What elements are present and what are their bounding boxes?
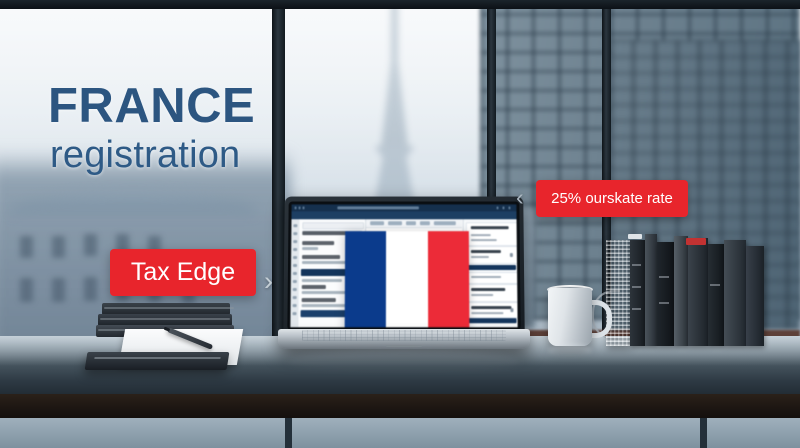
rail-icon[interactable] xyxy=(293,272,297,275)
chevron-right-icon[interactable]: › xyxy=(264,268,273,295)
window-transom xyxy=(0,0,800,9)
sidebar-item-label[interactable] xyxy=(302,255,340,259)
sidebar-item-subtext xyxy=(302,304,346,307)
detail-section-header xyxy=(466,265,516,270)
flag-band-white xyxy=(386,231,428,327)
main-toolbar xyxy=(366,219,462,228)
laptop-bezel xyxy=(287,201,520,330)
coffee-mug xyxy=(548,288,592,346)
app-title-bar xyxy=(292,204,517,211)
sidebar-item-label[interactable] xyxy=(302,285,326,289)
rail-icon[interactable] xyxy=(293,240,297,243)
page-title: FRANCE xyxy=(48,82,255,131)
window-mullion-lower xyxy=(285,418,292,448)
detail-section-header xyxy=(466,318,516,323)
detail-title xyxy=(471,288,505,291)
rail-icon[interactable] xyxy=(293,304,297,307)
book-spine-line xyxy=(710,284,720,286)
eiffel-mast xyxy=(391,0,398,68)
laptop xyxy=(278,196,530,366)
book-spine-line xyxy=(632,264,641,266)
book xyxy=(724,240,746,346)
search-input[interactable] xyxy=(302,222,364,229)
notebook-page-edge xyxy=(104,307,234,309)
book xyxy=(645,234,657,346)
toolbar-button[interactable] xyxy=(420,221,430,225)
detail-panel xyxy=(463,219,518,327)
flag-band-blue xyxy=(345,231,387,327)
mug-reflection xyxy=(548,344,592,357)
notebook-page-edge xyxy=(94,357,220,359)
book xyxy=(746,246,764,346)
sidebar-item-subtext xyxy=(302,291,348,294)
paris-window xyxy=(84,234,97,256)
app-menu-bar xyxy=(291,211,516,219)
sidebar-item-subtext xyxy=(302,279,342,282)
paris-window xyxy=(52,236,65,258)
paris-window xyxy=(20,236,33,258)
book-marker-red xyxy=(686,238,706,245)
detail-title xyxy=(471,226,509,229)
detail-card[interactable] xyxy=(466,222,518,246)
window-minimize-icon[interactable] xyxy=(497,207,499,209)
rail-icon[interactable] xyxy=(293,312,297,315)
french-flag-graphic xyxy=(345,231,470,327)
page-subtitle: registration xyxy=(50,136,240,174)
window-close-icon[interactable] xyxy=(508,207,510,209)
detail-card[interactable] xyxy=(466,272,518,284)
tax-edge-badge[interactable]: Tax Edge xyxy=(110,249,256,296)
book xyxy=(657,242,674,346)
app-title-text xyxy=(337,207,419,210)
notebook-page-edge xyxy=(100,318,230,320)
sidebar-item-label[interactable] xyxy=(302,298,336,302)
book xyxy=(708,244,724,346)
book xyxy=(688,238,708,346)
detail-title xyxy=(471,250,501,253)
screenshot-scene: FRANCE registration Tax Edge › 25% oursk… xyxy=(0,0,800,448)
toolbar-button[interactable] xyxy=(370,221,384,225)
book-spine-line xyxy=(659,302,669,304)
laptop-reflection xyxy=(288,350,520,372)
window-dot[interactable] xyxy=(299,207,301,209)
toolbar-button[interactable] xyxy=(406,221,416,225)
rail-icon[interactable] xyxy=(293,296,297,299)
window-maximize-icon[interactable] xyxy=(502,207,504,209)
detail-subtext xyxy=(471,276,501,278)
eiffel-upper-section xyxy=(380,60,409,156)
detail-card[interactable] xyxy=(466,302,517,318)
book-marker-white xyxy=(628,234,642,239)
rail-icon[interactable] xyxy=(293,280,297,283)
detail-card[interactable] xyxy=(466,284,518,302)
toolbar-button[interactable] xyxy=(434,221,456,225)
paris-window xyxy=(20,278,33,302)
book-spine-line xyxy=(632,286,641,288)
background-below-desk xyxy=(0,418,800,448)
rail-icon[interactable] xyxy=(293,248,297,251)
rail-icon[interactable] xyxy=(293,224,297,227)
laptop-keyboard[interactable] xyxy=(302,330,506,341)
detail-card[interactable] xyxy=(466,246,518,264)
window-dot[interactable] xyxy=(303,207,305,209)
sidebar-item-subtext xyxy=(302,261,346,264)
paris-window xyxy=(52,278,65,302)
detail-subtext xyxy=(471,239,497,241)
flag-band-red xyxy=(428,231,470,327)
rate-badge[interactable]: 25% ourskate rate xyxy=(536,180,688,217)
notebook-bottom xyxy=(85,352,230,370)
rail-icon[interactable] xyxy=(293,256,297,259)
window-dot[interactable] xyxy=(295,207,297,209)
detail-action-icon[interactable] xyxy=(510,308,513,312)
chevron-left-icon[interactable]: ‹ xyxy=(516,186,524,209)
book-spine-line xyxy=(659,276,669,278)
paris-window xyxy=(84,277,97,301)
window-mullion-lower xyxy=(700,418,707,448)
detail-title xyxy=(471,306,511,309)
sidebar-item-subtext xyxy=(302,247,318,250)
detail-action-icon[interactable] xyxy=(510,253,513,257)
detail-subtext xyxy=(471,234,491,236)
laptop-screen[interactable] xyxy=(290,204,517,327)
app-body xyxy=(290,219,517,327)
detail-subtext xyxy=(471,256,489,258)
detail-subtext xyxy=(471,312,503,314)
book xyxy=(630,240,645,346)
book xyxy=(674,236,688,346)
book-row xyxy=(606,228,786,346)
rail-icon[interactable] xyxy=(293,264,297,267)
sidebar-item-label[interactable] xyxy=(302,231,350,235)
sidebar-item-label[interactable] xyxy=(302,241,334,245)
rail-icon[interactable] xyxy=(293,232,297,235)
detail-subtext xyxy=(471,294,493,296)
book-spine-line xyxy=(632,308,641,310)
rail-icon[interactable] xyxy=(293,288,297,291)
toolbar-button[interactable] xyxy=(388,221,402,225)
laptop-front-notch xyxy=(386,345,422,347)
